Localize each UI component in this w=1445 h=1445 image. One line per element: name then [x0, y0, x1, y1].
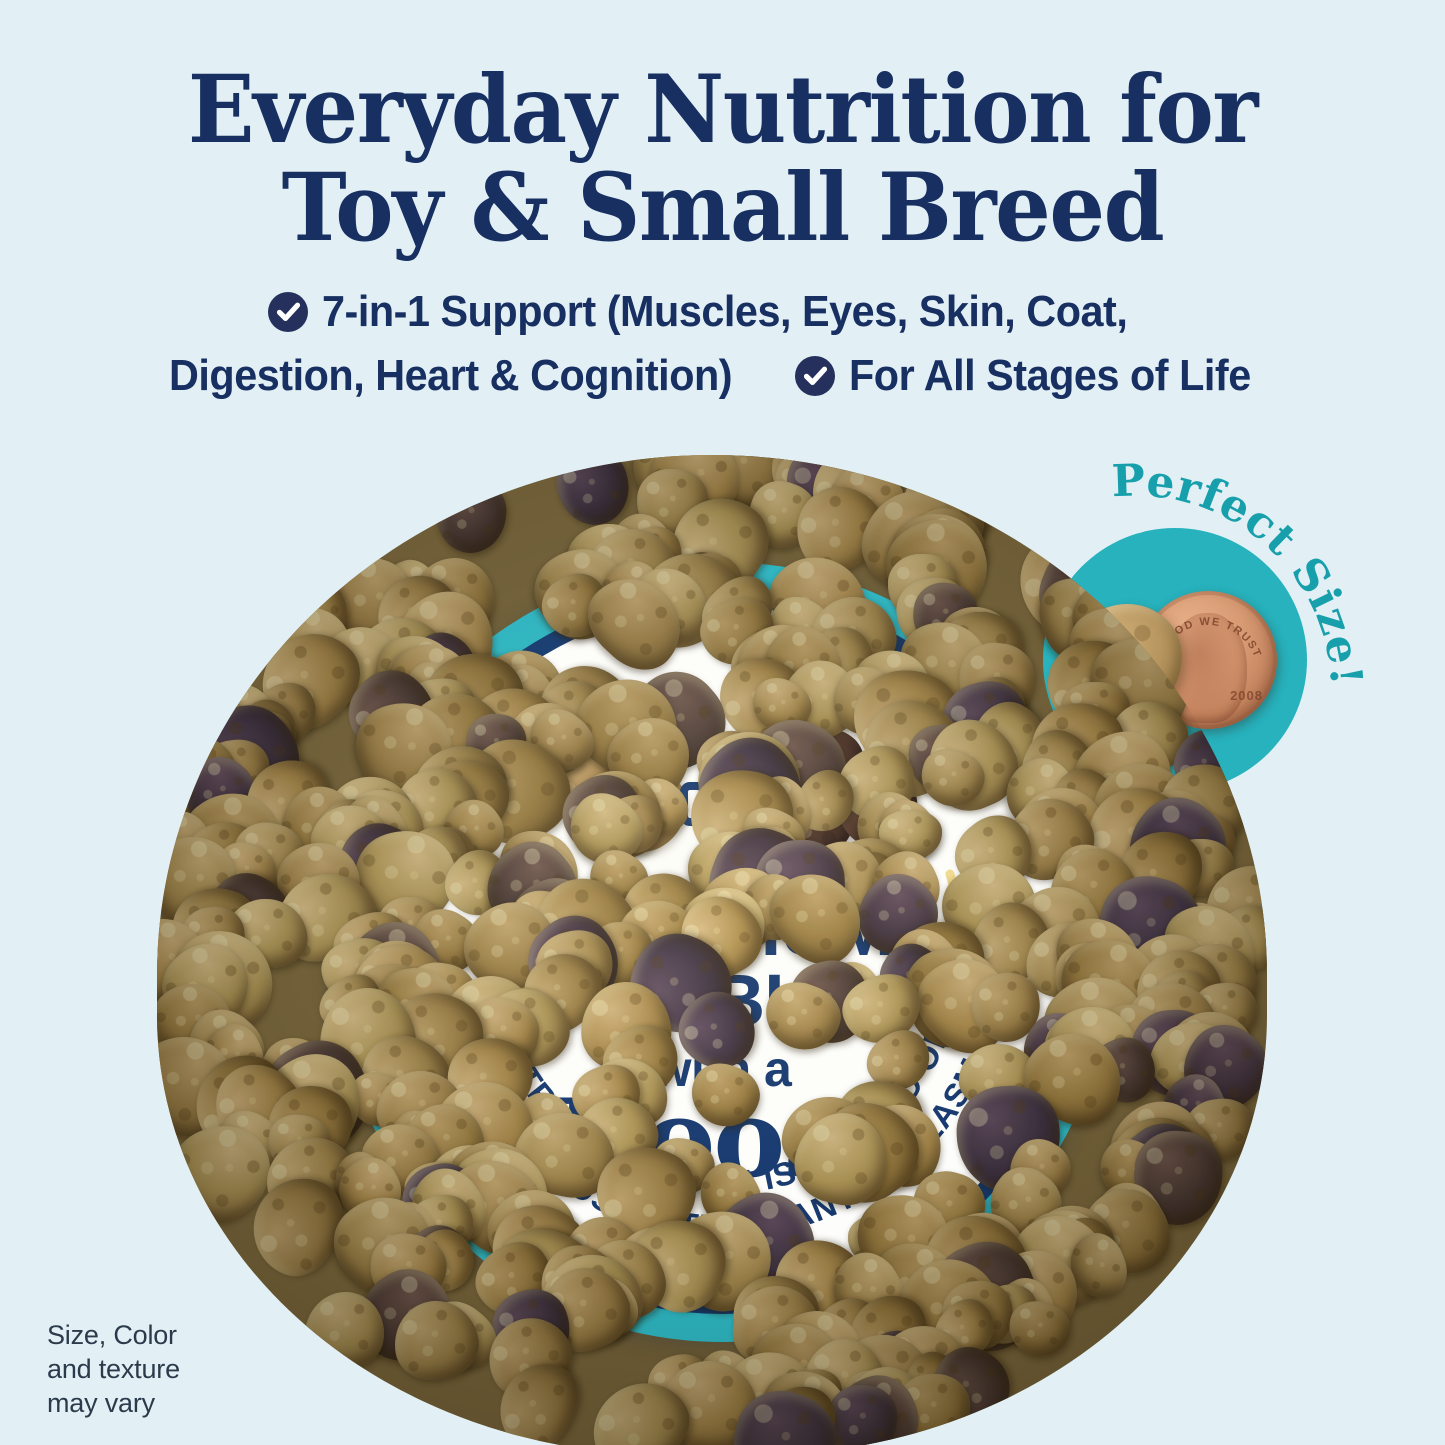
- product-infographic: Everyday Nutrition for Toy & Small Breed…: [0, 0, 1445, 1445]
- bullet-text-3: For All Stages of Life: [849, 350, 1251, 402]
- disclaimer-text: Size, Color and texture may vary: [47, 1318, 180, 1420]
- disclaimer-line-2: and texture: [47, 1352, 180, 1386]
- headline-line-2: Toy & Small Breed: [51, 160, 1395, 258]
- kibble-pile-photo: [157, 455, 1267, 1445]
- bullet-text-1: 7-in-1 Support (Muscles, Eyes, Skin, Coa…: [322, 286, 1127, 338]
- disclaimer-line-1: Size, Color: [47, 1318, 180, 1352]
- check-circle-icon: [267, 291, 309, 333]
- page-title: Everyday Nutrition for Toy & Small Breed: [51, 62, 1395, 258]
- bullet-row-2: Digestion, Heart & Cognition) For All St…: [0, 350, 1445, 402]
- bullet-item-life-stages: For All Stages of Life: [794, 350, 1276, 402]
- headline-line-1: Everyday Nutrition for: [51, 62, 1395, 160]
- bullet-text-2: Digestion, Heart & Cognition): [169, 350, 732, 402]
- disclaimer-line-3: may vary: [47, 1386, 180, 1420]
- feature-bullets: 7-in-1 Support (Muscles, Eyes, Skin, Coa…: [0, 286, 1445, 402]
- penny-year-text: 2008: [1230, 688, 1263, 703]
- bullet-item-support: 7-in-1 Support (Muscles, Eyes, Skin, Coa…: [267, 286, 1179, 338]
- kibble-piece-dark: [433, 476, 509, 555]
- check-circle-icon: [794, 355, 836, 397]
- bullet-row-1: 7-in-1 Support (Muscles, Eyes, Skin, Coa…: [0, 286, 1445, 338]
